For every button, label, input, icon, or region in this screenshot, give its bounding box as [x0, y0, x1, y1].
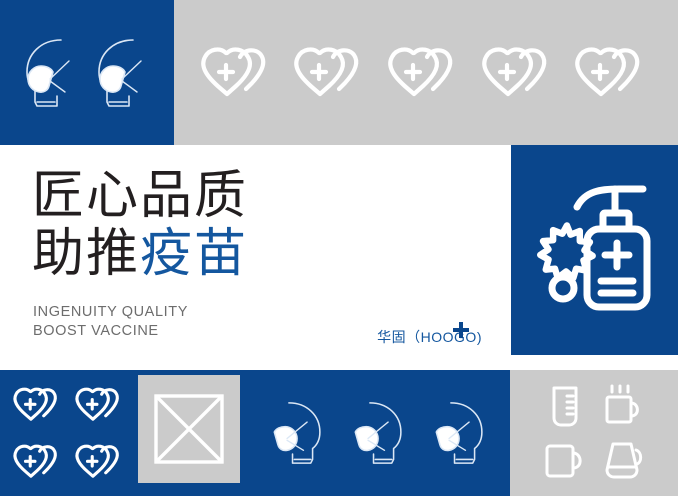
double-heart-plus-icon	[570, 43, 656, 103]
double-heart-plus-icon	[72, 383, 130, 427]
double-heart-plus-icon	[477, 43, 563, 103]
masked-face-icon-row	[0, 0, 174, 145]
beaker-icon	[545, 384, 585, 428]
sanitizer-pump-bottle-icon	[535, 183, 659, 315]
bottom-blue-band	[0, 370, 510, 496]
crossed-box-icon	[153, 393, 225, 465]
subtitle-block: INGENUITY QUALITY BOOST VACCINE	[33, 303, 188, 341]
double-heart-grey-band	[174, 0, 678, 145]
headline-block: 匠心品质 助推疫苗	[32, 167, 248, 283]
vessel-icon-grid	[510, 370, 678, 496]
double-heart-plus-icon	[289, 43, 375, 103]
double-heart-plus-icon	[10, 440, 68, 484]
headline-line-1: 匠心品质	[32, 167, 248, 225]
double-heart-plus-icon	[10, 383, 68, 427]
masked-face-icon	[348, 395, 410, 471]
double-heart-plus-icon	[196, 43, 282, 103]
plus-accent-icon	[452, 321, 470, 339]
poster-canvas: 匠心品质 助推疫苗 INGENUITY QUALITY BOOST VACCIN…	[0, 0, 678, 496]
subtitle-line-1: INGENUITY QUALITY	[33, 303, 188, 322]
masked-face-icon	[429, 395, 491, 471]
steaming-mug-icon	[600, 383, 646, 429]
masked-face-icon	[89, 32, 157, 114]
vessel-grey-tile	[510, 370, 678, 496]
headline-line-2-accent: 疫苗	[140, 224, 248, 284]
headline-line-2-dark: 助推	[32, 224, 140, 284]
sanitizer-blue-tile	[511, 145, 678, 355]
subtitle-line-2: BOOST VACCINE	[33, 322, 188, 341]
masked-face-icon	[267, 395, 329, 471]
placeholder-grey-tile	[138, 375, 240, 483]
masked-faces-blue-tile	[0, 0, 174, 145]
masked-face-icon-row	[248, 370, 510, 496]
white-gutter	[504, 145, 511, 355]
double-heart-icon-row	[174, 0, 678, 145]
masked-face-icon	[17, 32, 85, 114]
headline-white-tile: 匠心品质 助推疫苗 INGENUITY QUALITY BOOST VACCIN…	[0, 145, 504, 355]
double-heart-plus-icon	[72, 440, 130, 484]
double-heart-grid	[8, 376, 132, 490]
double-heart-plus-icon	[383, 43, 469, 103]
kettle-icon	[600, 440, 646, 482]
headline-line-2: 助推疫苗	[32, 225, 248, 283]
plain-mug-icon	[543, 441, 587, 481]
